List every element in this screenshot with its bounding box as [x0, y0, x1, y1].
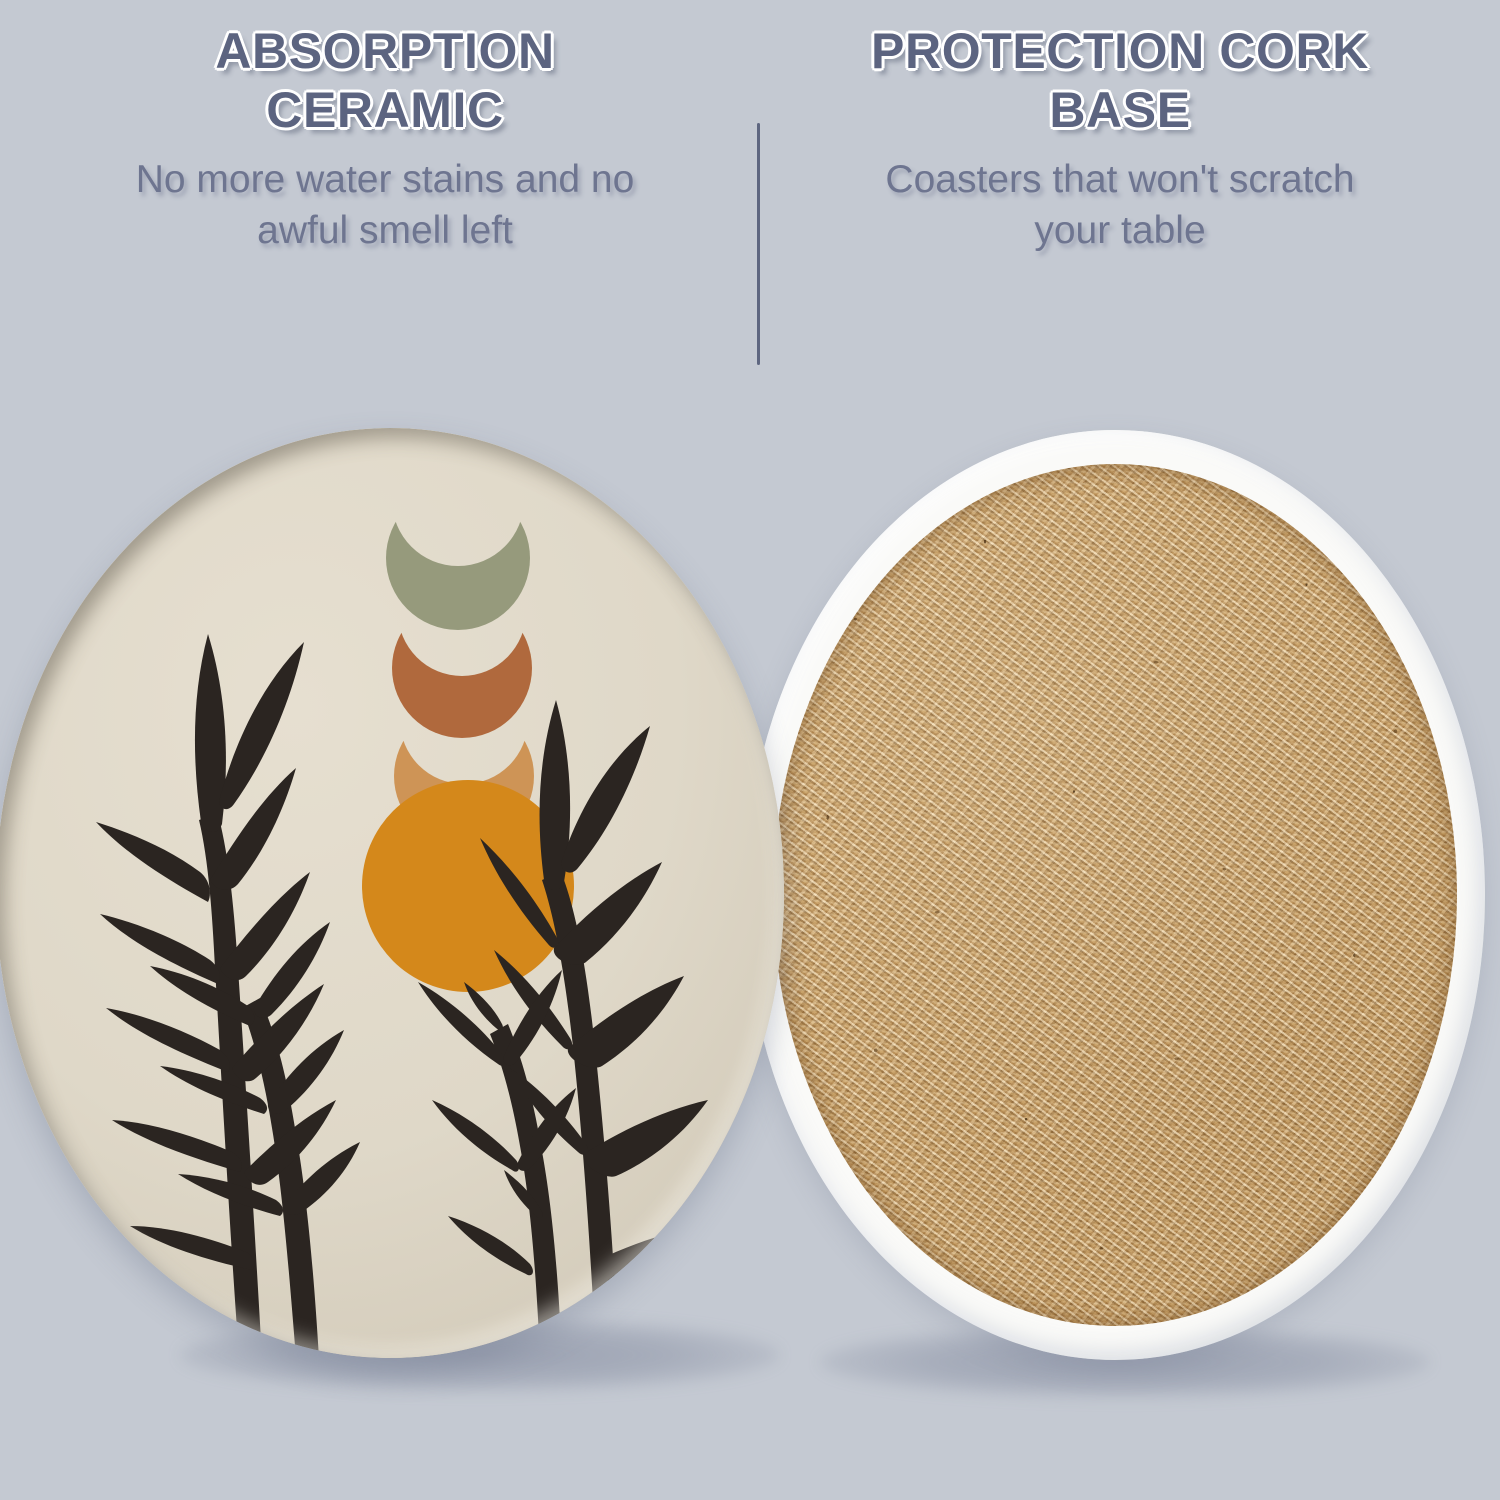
ceramic-coaster-front: [0, 428, 784, 1358]
feature-panel-absorption: ABSORPTION CERAMIC No more water stains …: [40, 0, 730, 400]
absorption-subtitle: No more water stains and no awful smell …: [40, 140, 730, 257]
header-divider: [757, 123, 760, 365]
absorption-title: ABSORPTION CERAMIC: [40, 0, 730, 140]
cork-texture-pad: [773, 464, 1457, 1326]
protection-title: PROTECTION CORK BASE: [775, 0, 1465, 140]
feature-header: ABSORPTION CERAMIC No more water stains …: [0, 0, 1500, 400]
protection-subtitle: Coasters that won't scratch your table: [775, 140, 1465, 257]
feature-panel-protection: PROTECTION CORK BASE Coasters that won't…: [775, 0, 1465, 400]
ceramic-artwork: [0, 428, 784, 1358]
cork-coaster-back: [745, 430, 1485, 1360]
product-feature-image: ABSORPTION CERAMIC No more water stains …: [0, 0, 1500, 1500]
